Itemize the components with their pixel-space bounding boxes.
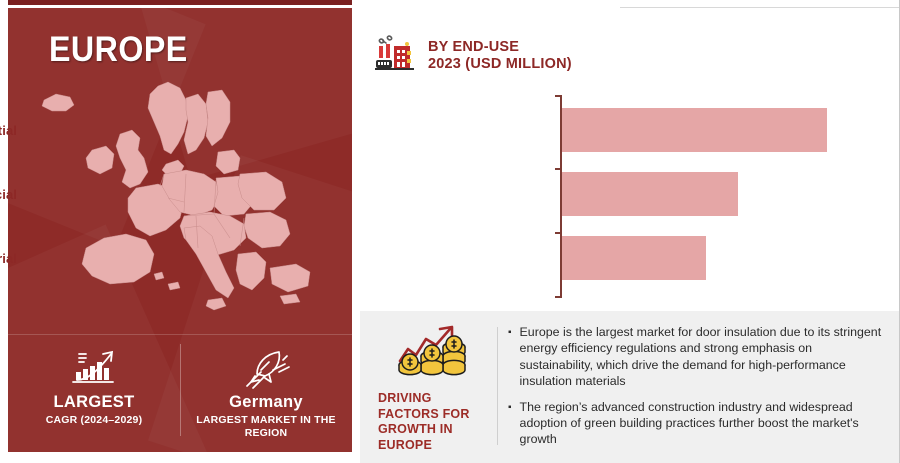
chart-heading-line-1: BY END-USE xyxy=(428,39,572,56)
growth-bar-chart-icon xyxy=(8,344,180,392)
stats-divider xyxy=(8,334,352,335)
axis-tick xyxy=(555,168,561,170)
coins-growth-arrow-icon xyxy=(374,325,491,383)
stat-cell-largest-market: Germany LARGEST MARKET IN THE REGION xyxy=(180,336,352,452)
stat-caption: CAGR (2024–2029) xyxy=(8,414,180,427)
axis-cap-bottom xyxy=(555,296,562,298)
driving-factors-left: DRIVING FACTORS FOR GROWTH IN EUROPE xyxy=(360,311,497,463)
bar-category-label: Commercial xyxy=(0,187,17,202)
rocket-icon xyxy=(180,344,352,392)
bullet-marker-icon: ▪ xyxy=(508,399,512,448)
bar-industrial xyxy=(562,236,706,280)
region-stats-row: LARGEST CAGR (2024–2029) xyxy=(8,336,352,452)
stat-caption: LARGEST MARKET IN THE REGION xyxy=(180,414,352,439)
driving-factors-title: DRIVING FACTORS FOR GROWTH IN EUROPE xyxy=(374,391,491,453)
list-item: ▪ The region’s advanced construction ind… xyxy=(508,399,883,448)
bullet-text: The region’s advanced construction indus… xyxy=(520,399,883,448)
page-title: EUROPE xyxy=(49,30,188,70)
driving-factors-panel: DRIVING FACTORS FOR GROWTH IN EUROPE ▪ E… xyxy=(360,311,899,463)
bullet-text: Europe is the largest market for door in… xyxy=(520,324,883,390)
bar-residential xyxy=(562,108,827,152)
europe-map-icon xyxy=(8,78,338,326)
factory-icon xyxy=(374,34,416,77)
axis-cap-top xyxy=(555,95,562,97)
axis-tick xyxy=(555,232,561,234)
driving-factors-bullets: ▪ Europe is the largest market for door … xyxy=(498,311,899,463)
stat-value: Germany xyxy=(180,393,352,412)
regional-infographic: EUROPE xyxy=(0,0,900,463)
bar-category-label: Residential xyxy=(0,123,17,138)
chart-heading-line-2: 2023 (USD MILLION) xyxy=(428,56,572,73)
stat-cell-cagr: LARGEST CAGR (2024–2029) xyxy=(8,336,180,452)
list-item: ▪ Europe is the largest market for door … xyxy=(508,324,883,390)
bar-category-label: Industrial xyxy=(0,251,17,266)
stat-value: LARGEST xyxy=(8,393,180,412)
chart-panel: BY END-USE 2023 (USD MILLION) Residentia… xyxy=(360,8,899,311)
left-panel-top-cap xyxy=(8,0,352,5)
bar-chart: Residential Commercial Industrial xyxy=(360,90,899,305)
bullet-marker-icon: ▪ xyxy=(508,324,512,390)
chart-header: BY END-USE 2023 (USD MILLION) xyxy=(374,34,572,77)
bar-commercial xyxy=(562,172,738,216)
chart-heading: BY END-USE 2023 (USD MILLION) xyxy=(428,39,572,73)
